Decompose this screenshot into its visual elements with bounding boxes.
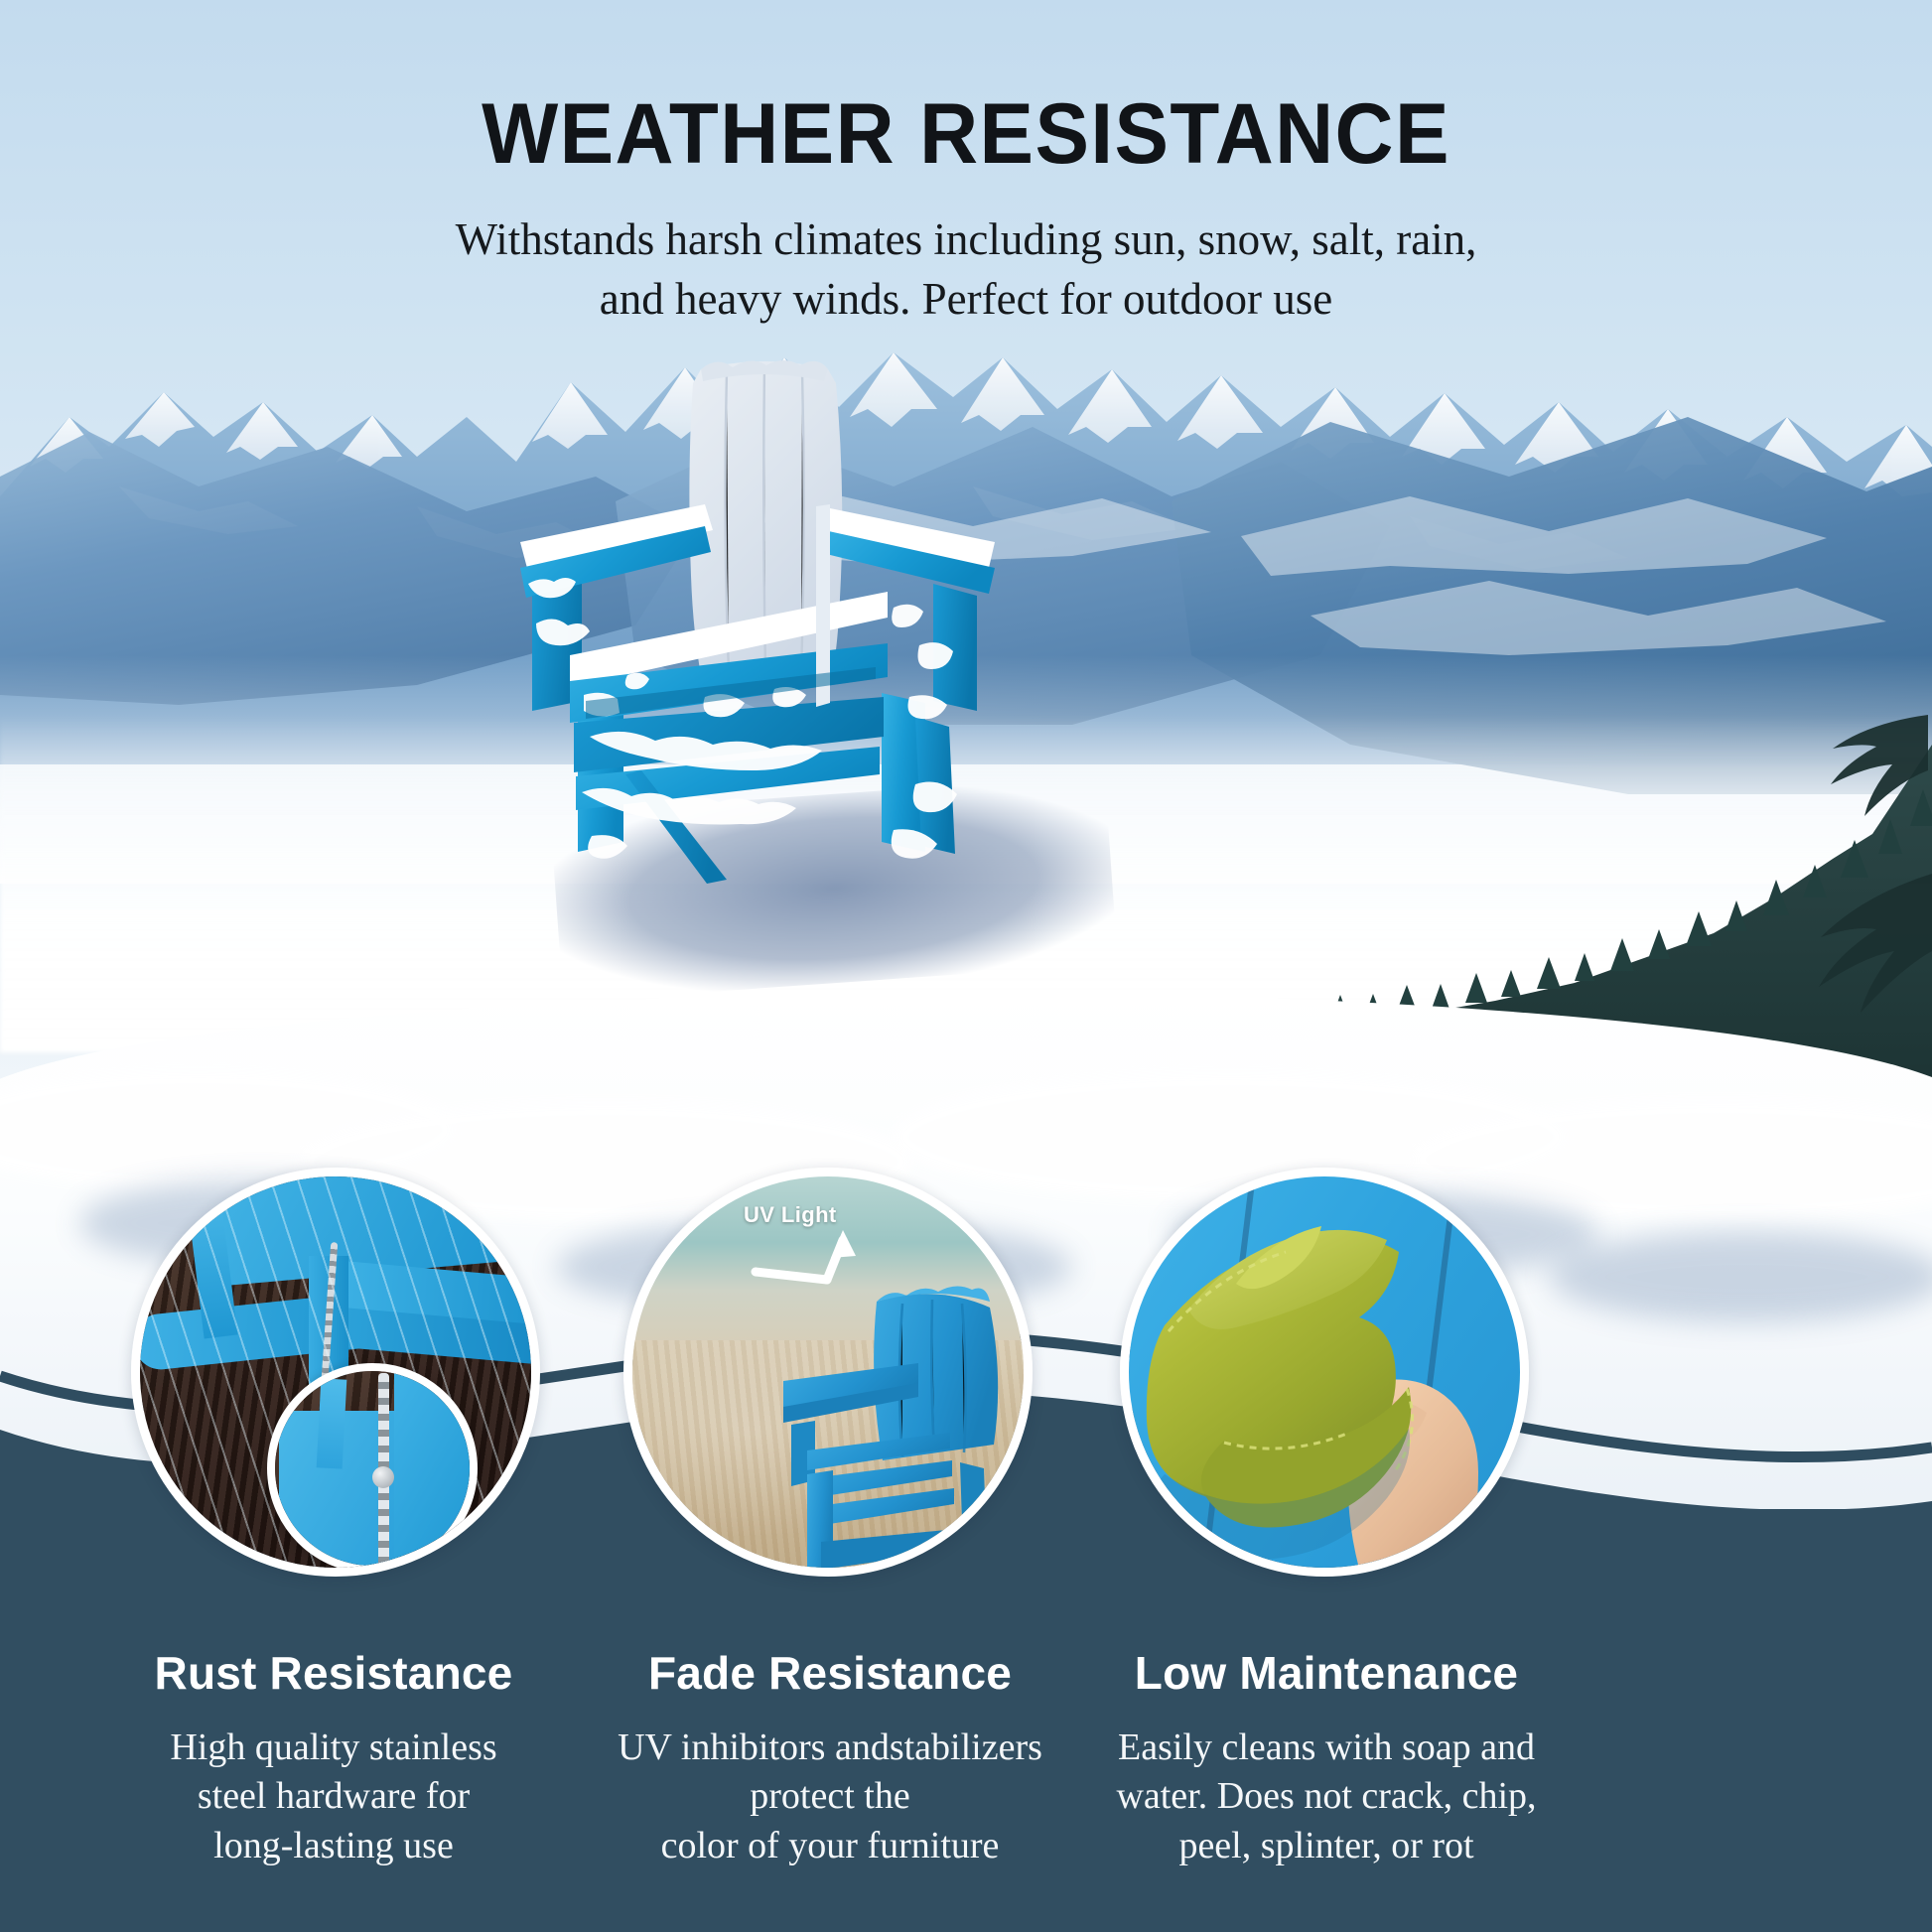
feature-image-fade-resistance: UV Light	[623, 1168, 1033, 1577]
feature-body-line-2: steel hardware for	[56, 1772, 612, 1821]
header-block: WEATHER RESISTANCE Withstands harsh clim…	[0, 0, 1932, 330]
feature-body-line-2: water. Does not crack, chip,	[1048, 1772, 1604, 1821]
feature-image-low-maintenance	[1120, 1168, 1529, 1577]
feature-body-fade-resistance: UV inhibitors andstabilizers protect the…	[552, 1724, 1108, 1870]
feature-body-line-3: long-lasting use	[56, 1822, 612, 1870]
feature-body-line-1: Easily cleans with soap and	[1048, 1724, 1604, 1772]
cleaning-cloth-and-hand	[1129, 1176, 1529, 1577]
feature-text-rust-resistance: Rust Resistance High quality stainless s…	[56, 1646, 612, 1870]
magnifier-inset	[267, 1363, 478, 1574]
feature-text-low-maintenance: Low Maintenance Easily cleans with soap …	[1048, 1646, 1604, 1870]
subtitle-line-2: and heavy winds. Perfect for outdoor use	[0, 270, 1932, 330]
feature-body-line-1: High quality stainless	[56, 1724, 612, 1772]
feature-body-low-maintenance: Easily cleans with soap and water. Does …	[1048, 1724, 1604, 1870]
infographic-canvas: WEATHER RESISTANCE Withstands harsh clim…	[0, 0, 1932, 1932]
beach-chair	[632, 1176, 1033, 1577]
feature-body-line-2: protect the	[552, 1772, 1108, 1821]
page-subtitle: Withstands harsh climates including sun,…	[0, 210, 1932, 330]
page-title: WEATHER RESISTANCE	[49, 91, 1884, 177]
feature-title-low-maintenance: Low Maintenance	[1048, 1646, 1604, 1700]
feature-image-rust-resistance	[131, 1168, 540, 1577]
chain-bolt	[372, 1466, 394, 1488]
feature-body-rust-resistance: High quality stainless steel hardware fo…	[56, 1724, 612, 1870]
feature-text-fade-resistance: Fade Resistance UV inhibitors andstabili…	[552, 1646, 1108, 1870]
feature-title-fade-resistance: Fade Resistance	[552, 1646, 1108, 1700]
feature-title-rust-resistance: Rust Resistance	[56, 1646, 612, 1700]
feature-body-line-3: color of your furniture	[552, 1822, 1108, 1870]
feature-body-line-3: peel, splinter, or rot	[1048, 1822, 1604, 1870]
hero-chair	[467, 347, 1062, 943]
feature-body-line-1: UV inhibitors andstabilizers	[552, 1724, 1108, 1772]
subtitle-line-1: Withstands harsh climates including sun,…	[0, 210, 1932, 270]
